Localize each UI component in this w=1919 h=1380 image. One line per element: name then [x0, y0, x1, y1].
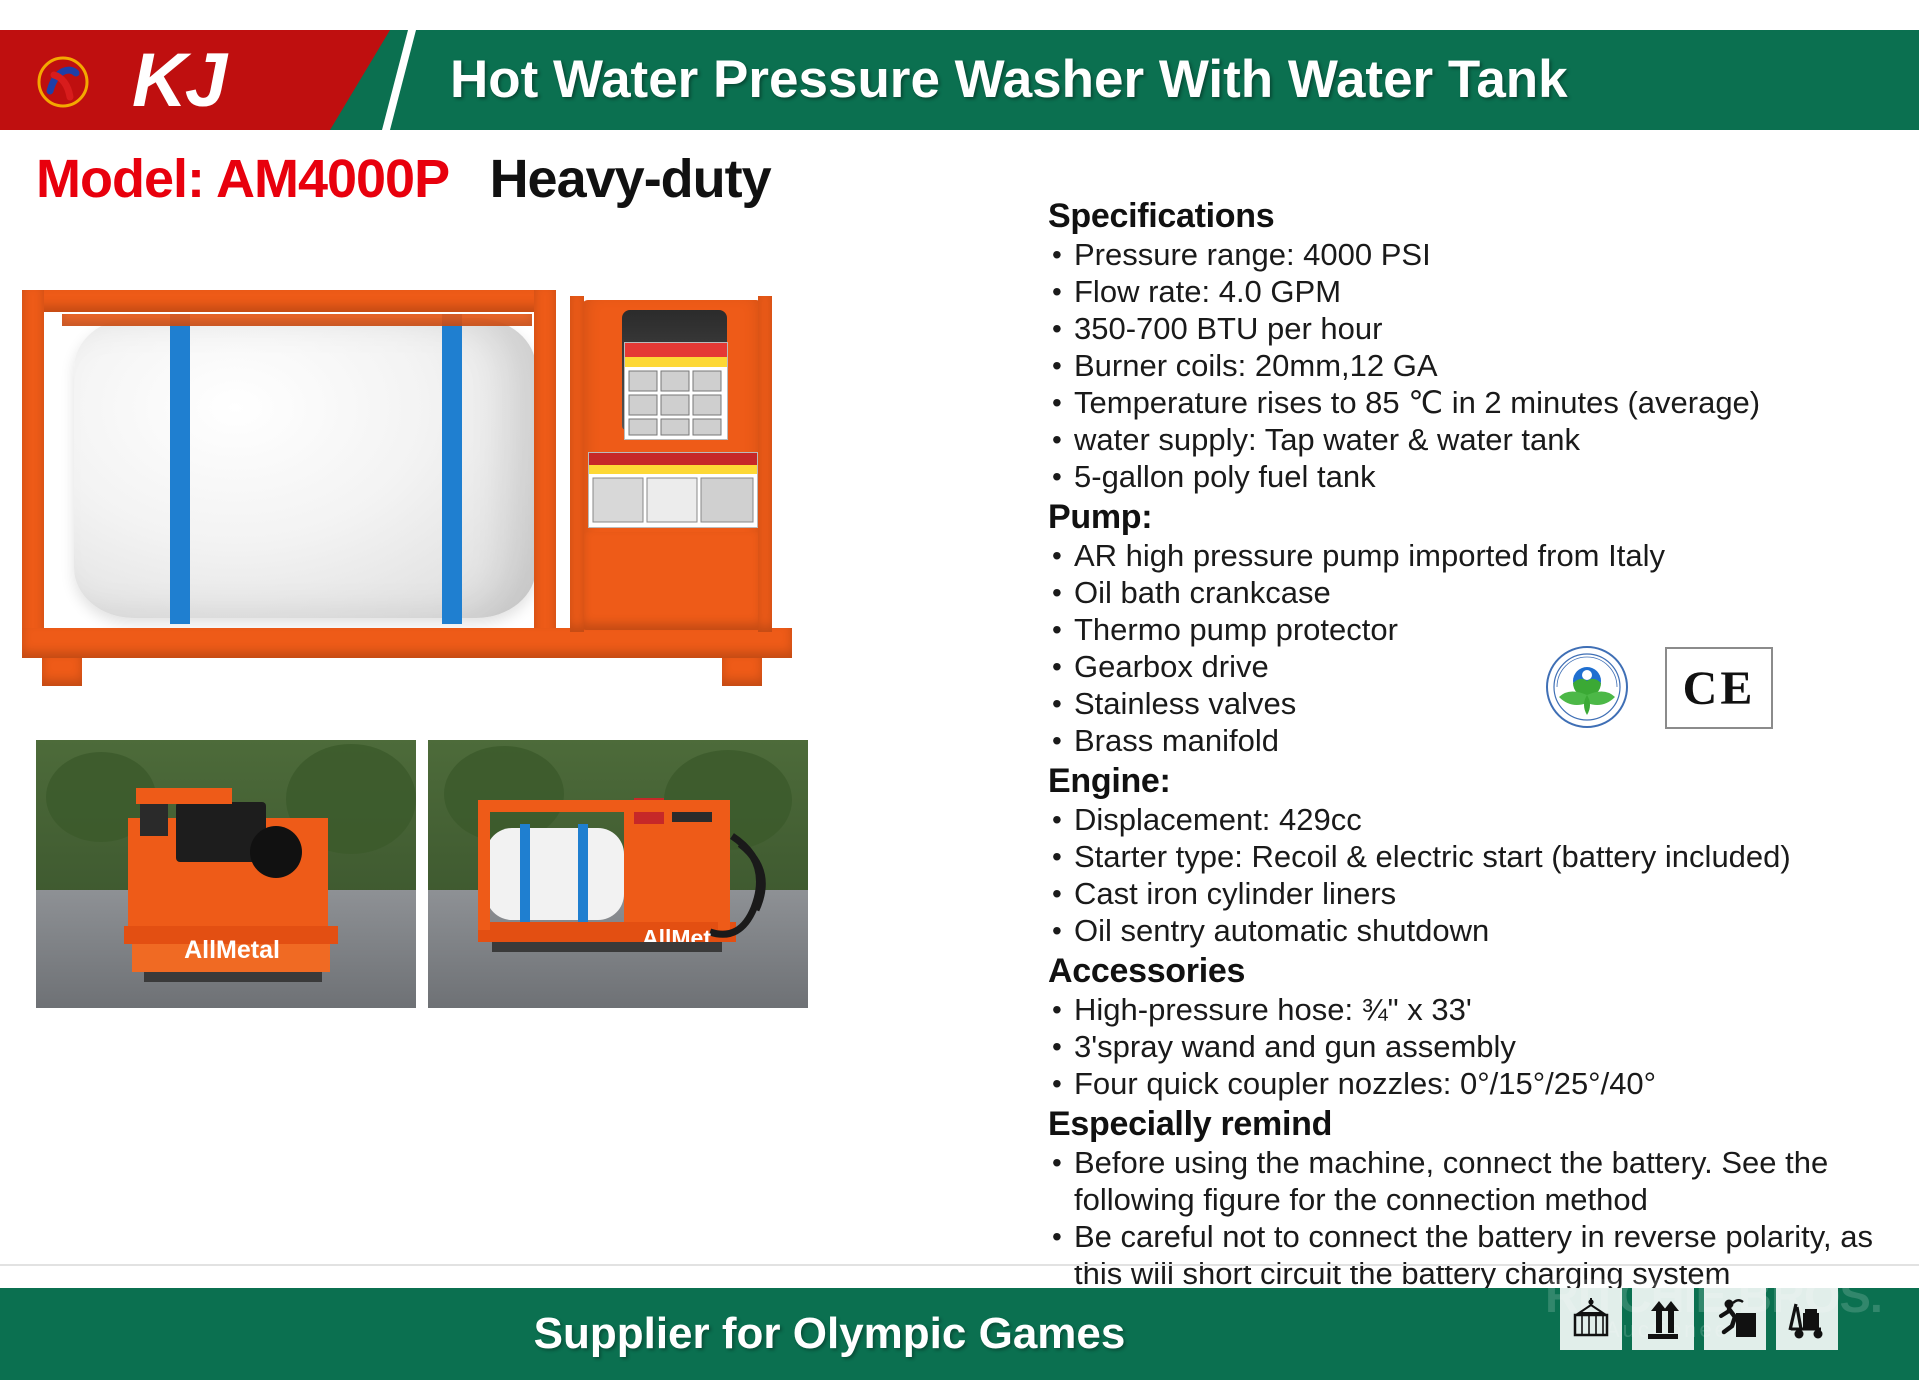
- list-item: AR high pressure pump imported from Ital…: [1048, 537, 1908, 574]
- list-item: High-pressure hose: ¾" x 33': [1048, 991, 1908, 1028]
- list-item: Oil bath crankcase: [1048, 574, 1908, 611]
- section-heading-pump: Pump:: [1048, 497, 1908, 537]
- frame-left-post: [22, 290, 44, 650]
- this-side-up-icon: [1632, 1288, 1694, 1350]
- frame-base-rail: [22, 628, 792, 658]
- specifications-list: Pressure range: 4000 PSI Flow rate: 4.0 …: [1048, 236, 1908, 495]
- frame-cross-brace: [62, 314, 532, 326]
- list-item: water supply: Tap water & water tank: [1048, 421, 1908, 458]
- do-not-climb-icon: [1704, 1288, 1766, 1350]
- list-item: Temperature rises to 85 ℃ in 2 minutes (…: [1048, 384, 1908, 421]
- list-item: Thermo pump protector: [1048, 611, 1908, 648]
- warning-decal: [624, 342, 728, 440]
- page-header: KJ Hot Water Pressure Washer With Water …: [0, 30, 1919, 130]
- svg-text:AllMetal: AllMetal: [184, 936, 280, 964]
- list-item: Before using the machine, connect the ba…: [1048, 1144, 1908, 1218]
- certification-badges: CE: [1545, 645, 1795, 735]
- list-item: Pressure range: 4000 PSI: [1048, 236, 1908, 273]
- full-unit-illustration: AllMet: [428, 740, 808, 1008]
- frame-mid-post: [534, 290, 556, 650]
- page-title: Hot Water Pressure Washer With Water Tan…: [450, 30, 1850, 130]
- list-item: Displacement: 429cc: [1048, 801, 1908, 838]
- container-lift-icon: [1560, 1288, 1622, 1350]
- ce-mark-label: CE: [1683, 661, 1756, 716]
- epa-seal-icon: [1545, 645, 1629, 729]
- secondary-photo-angled-view: AllMet: [428, 740, 808, 1008]
- accessories-list: High-pressure hose: ¾" x 33' 3'spray wan…: [1048, 991, 1908, 1102]
- section-heading-especially-remind: Especially remind: [1048, 1104, 1908, 1144]
- list-item: 3'spray wand and gun assembly: [1048, 1028, 1908, 1065]
- list-item: Oil sentry automatic shutdown: [1048, 912, 1908, 949]
- product-spec-decal: [588, 452, 758, 528]
- list-item: Cast iron cylinder liners: [1048, 875, 1908, 912]
- engine-list: Displacement: 429cc Starter type: Recoil…: [1048, 801, 1908, 949]
- module-guard-post: [570, 296, 584, 632]
- section-heading-accessories: Accessories: [1048, 951, 1908, 991]
- engine-unit-illustration: AllMetal: [36, 740, 416, 1008]
- tank-strap: [170, 314, 190, 624]
- list-item: Flow rate: 4.0 GPM: [1048, 273, 1908, 310]
- section-heading-engine: Engine:: [1048, 761, 1908, 801]
- frame-top-rail: [22, 290, 556, 312]
- list-item: 350-700 BTU per hour: [1048, 310, 1908, 347]
- pump-access-door: [582, 532, 762, 630]
- list-item: Burner coils: 20mm,12 GA: [1048, 347, 1908, 384]
- brand-wordmark: KJ: [132, 38, 225, 124]
- list-item: Starter type: Recoil & electric start (b…: [1048, 838, 1908, 875]
- forklift-icon: [1776, 1288, 1838, 1350]
- frame-foot: [722, 658, 762, 686]
- tank-strap: [442, 314, 462, 624]
- secondary-photo-engine-view: AllMetal: [36, 740, 416, 1008]
- frame-foot: [42, 658, 82, 686]
- model-duty-label: Heavy-duty: [490, 149, 771, 209]
- specifications-column: Specifications Pressure range: 4000 PSI …: [1048, 196, 1908, 1292]
- ce-mark-icon: CE: [1665, 647, 1773, 729]
- main-product-photo: [14, 248, 816, 708]
- list-item: Four quick coupler nozzles: 0°/15°/25°/4…: [1048, 1065, 1908, 1102]
- poly-water-tank: [74, 318, 536, 618]
- footer-divider: [0, 1264, 1919, 1266]
- list-item: 5-gallon poly fuel tank: [1048, 458, 1908, 495]
- kj-globe-logo-icon: [36, 55, 90, 109]
- model-line: Model: AM4000P Heavy-duty: [36, 148, 771, 210]
- skid-frame-illustration: [22, 270, 792, 670]
- module-guard-post-right: [758, 296, 772, 632]
- model-number: Model: AM4000P: [36, 149, 449, 209]
- section-heading-specifications: Specifications: [1048, 196, 1908, 236]
- shipping-handling-icons: [1560, 1288, 1838, 1350]
